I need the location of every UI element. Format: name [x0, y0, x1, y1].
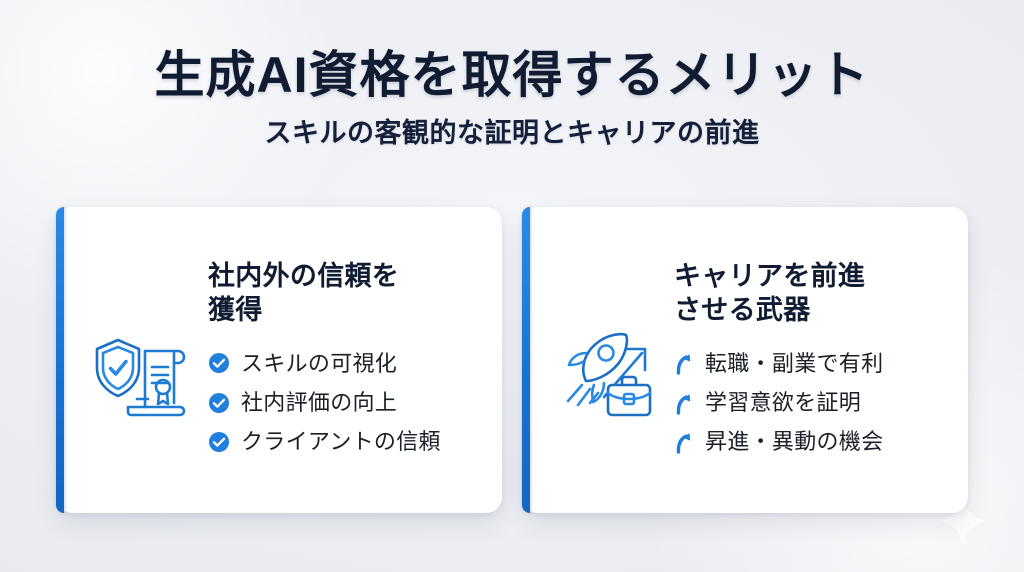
- list-item: 転職・副業で有利: [674, 344, 948, 383]
- benefit-list: スキルの可視化 社内評価の向上: [208, 344, 482, 462]
- page-header: 生成AI資格を取得するメリット スキルの客観的な証明とキャリアの前進: [0, 46, 1024, 149]
- benefit-list: 転職・副業で有利 学習意欲を証明: [674, 344, 948, 462]
- card-title: 社内外の信頼を 獲得: [208, 259, 482, 328]
- list-item-label: 転職・副業で有利: [705, 351, 883, 376]
- benefit-card-career[interactable]: キャリアを前進 させる武器 転職・副業で有利: [522, 207, 968, 513]
- arrow-up-curved-icon: [674, 391, 694, 415]
- card-title: キャリアを前進 させる武器: [674, 259, 948, 328]
- list-item: スキルの可視化: [208, 344, 482, 383]
- check-circle-icon: [208, 431, 230, 453]
- check-circle-icon: [208, 352, 230, 374]
- list-item: 社内評価の向上: [208, 383, 482, 422]
- list-item: 昇進・異動の機会: [674, 422, 948, 461]
- benefit-cards-container: 社内外の信頼を 獲得 スキルの可視化: [56, 207, 968, 513]
- arrow-up-curved-icon: [674, 351, 694, 375]
- list-item-label: 社内評価の向上: [241, 390, 397, 415]
- list-item: 学習意欲を証明: [674, 383, 948, 422]
- list-item-label: クライアントの信頼: [241, 429, 441, 454]
- list-item: クライアントの信頼: [208, 422, 482, 461]
- list-item-label: 学習意欲を証明: [705, 390, 861, 415]
- list-item-label: スキルの可視化: [241, 351, 397, 376]
- card-accent-bar: [522, 207, 530, 513]
- list-item-label: 昇進・異動の機会: [705, 429, 883, 454]
- arrow-up-curved-icon: [674, 430, 694, 454]
- check-circle-icon: [208, 392, 230, 414]
- card-accent-bar: [56, 207, 64, 513]
- benefit-card-trust[interactable]: 社内外の信頼を 獲得 スキルの可視化: [56, 207, 502, 513]
- page-subtitle: スキルの客観的な証明とキャリアの前進: [0, 117, 1024, 149]
- shield-check-certificate-icon: [86, 323, 198, 427]
- rocket-briefcase-growth-icon: [552, 323, 664, 427]
- page-title: 生成AI資格を取得するメリット: [0, 46, 1024, 104]
